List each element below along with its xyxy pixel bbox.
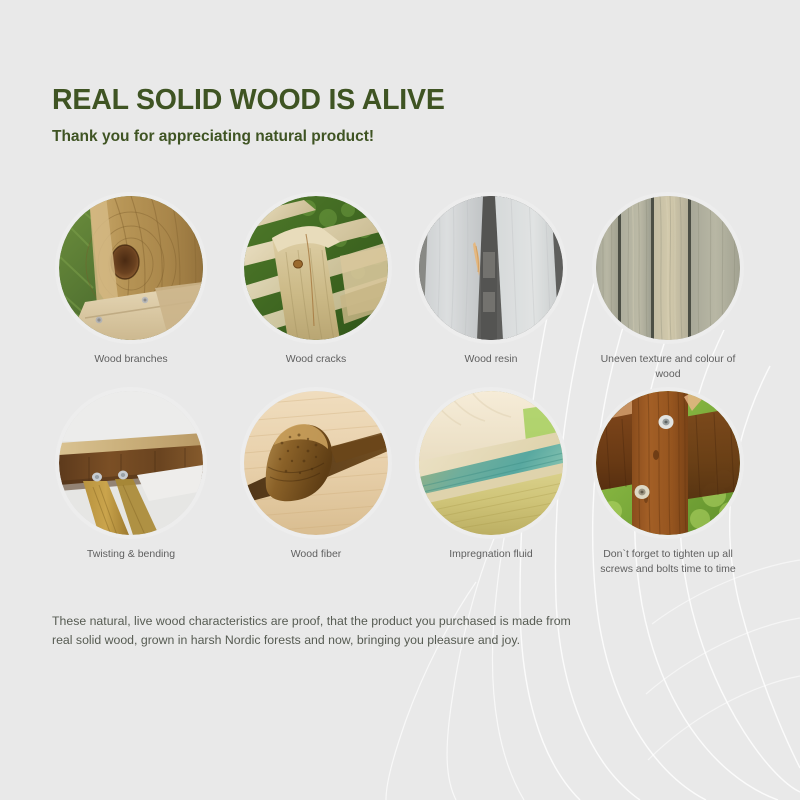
feature-caption: Don`t forget to tighten up all screws an… <box>575 547 761 577</box>
wood-branches-photo-frame <box>59 196 203 340</box>
impregnation-fluid-photo-frame <box>419 391 563 535</box>
feature-item-tighten-screws: Don`t forget to tighten up all screws an… <box>575 391 761 577</box>
wood-fiber-photo <box>244 391 388 535</box>
feature-item-impregnation-fluid: Impregnation fluid <box>398 391 584 562</box>
header: REAL SOLID WOOD IS ALIVE Thank you for a… <box>52 86 445 145</box>
feature-item-twisting-bending: Twisting & bending <box>38 391 224 562</box>
page-title: REAL SOLID WOOD IS ALIVE <box>52 86 445 116</box>
tighten-screws-photo-frame <box>596 391 740 535</box>
feature-caption: Wood fiber <box>223 547 409 562</box>
wood-branches-photo <box>59 196 203 340</box>
wood-fiber-photo-frame <box>244 391 388 535</box>
feature-caption: Twisting & bending <box>38 547 224 562</box>
feature-item-wood-branches: Wood branches <box>38 196 224 367</box>
uneven-texture-photo-frame <box>596 196 740 340</box>
wood-cracks-photo <box>244 196 388 340</box>
page-subtitle: Thank you for appreciating natural produ… <box>52 128 445 145</box>
feature-item-wood-resin: Wood resin <box>398 196 584 367</box>
feature-caption: Wood branches <box>38 352 224 367</box>
wood-resin-photo-frame <box>419 196 563 340</box>
tighten-screws-photo <box>596 391 740 535</box>
feature-item-uneven-texture: Uneven texture and colour of wood <box>575 196 761 382</box>
impregnation-fluid-photo <box>419 391 563 535</box>
wood-resin-photo <box>419 196 563 340</box>
wood-cracks-photo-frame <box>244 196 388 340</box>
footer-note: These natural, live wood characteristics… <box>52 612 592 650</box>
feature-caption: Wood resin <box>398 352 584 367</box>
feature-caption: Impregnation fluid <box>398 547 584 562</box>
infographic-page: REAL SOLID WOOD IS ALIVE Thank you for a… <box>0 0 800 800</box>
feature-caption: Uneven texture and colour of wood <box>575 352 761 382</box>
twisting-bending-photo-frame <box>59 391 203 535</box>
uneven-texture-photo <box>596 196 740 340</box>
feature-item-wood-fiber: Wood fiber <box>223 391 409 562</box>
feature-caption: Wood cracks <box>223 352 409 367</box>
twisting-bending-photo <box>59 391 203 535</box>
feature-item-wood-cracks: Wood cracks <box>223 196 409 367</box>
